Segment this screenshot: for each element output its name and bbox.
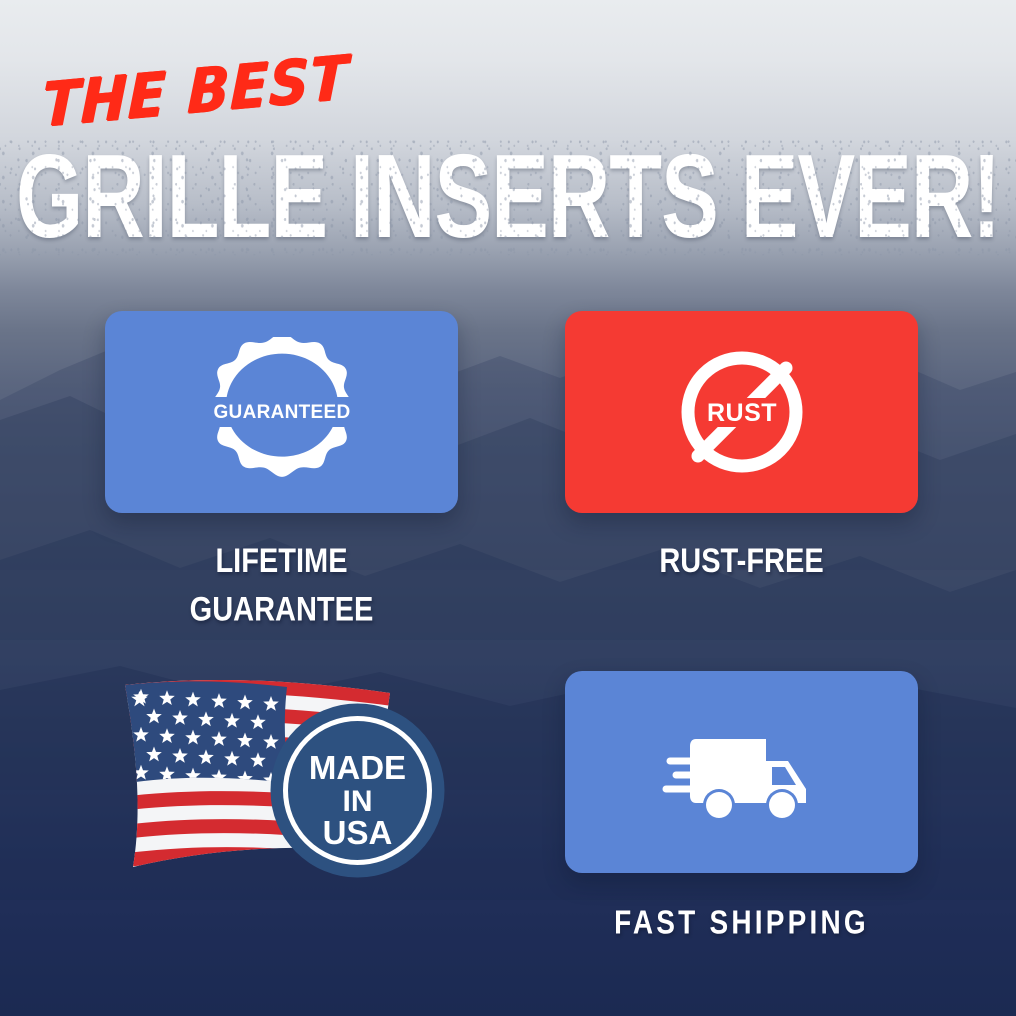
caption-lifetime-guarantee: LIFETIME GUARANTEE: [105, 538, 458, 635]
feature-fast-shipping: FAST SHIPPING: [565, 671, 918, 939]
guaranteed-seal-label: GUARANTEED: [213, 402, 350, 423]
promo-poster: THE BEST GRILLE INSERTS EVER! GUARANTEED…: [0, 0, 1016, 1016]
headline-text: GRILLE INSERTS EVER!: [16, 129, 1000, 262]
card-rust-free[interactable]: RUST: [565, 311, 918, 513]
feature-lifetime-guarantee: GUARANTEED LIFETIME GUARANTEE: [105, 311, 458, 620]
guaranteed-seal-icon: GUARANTEED: [207, 337, 357, 487]
delivery-truck-icon: [662, 717, 822, 827]
caption-fast-shipping: FAST SHIPPING: [565, 898, 918, 946]
rust-icon-label: RUST: [706, 399, 776, 427]
card-lifetime-guarantee[interactable]: GUARANTEED: [105, 311, 458, 513]
badge-line-made: MADE: [309, 749, 406, 786]
feature-rust-free: RUST RUST-FREE: [565, 311, 918, 579]
card-fast-shipping[interactable]: [565, 671, 918, 873]
page-title: GRILLE INSERTS EVER!: [0, 136, 1016, 255]
badge-line-usa: USA: [323, 814, 393, 851]
made-in-usa-badge-icon: MADE IN USA: [270, 703, 445, 878]
feature-made-in-usa: MADE IN USA: [105, 671, 458, 886]
caption-rust-free: RUST-FREE: [565, 538, 918, 586]
no-rust-icon: RUST: [667, 337, 817, 487]
